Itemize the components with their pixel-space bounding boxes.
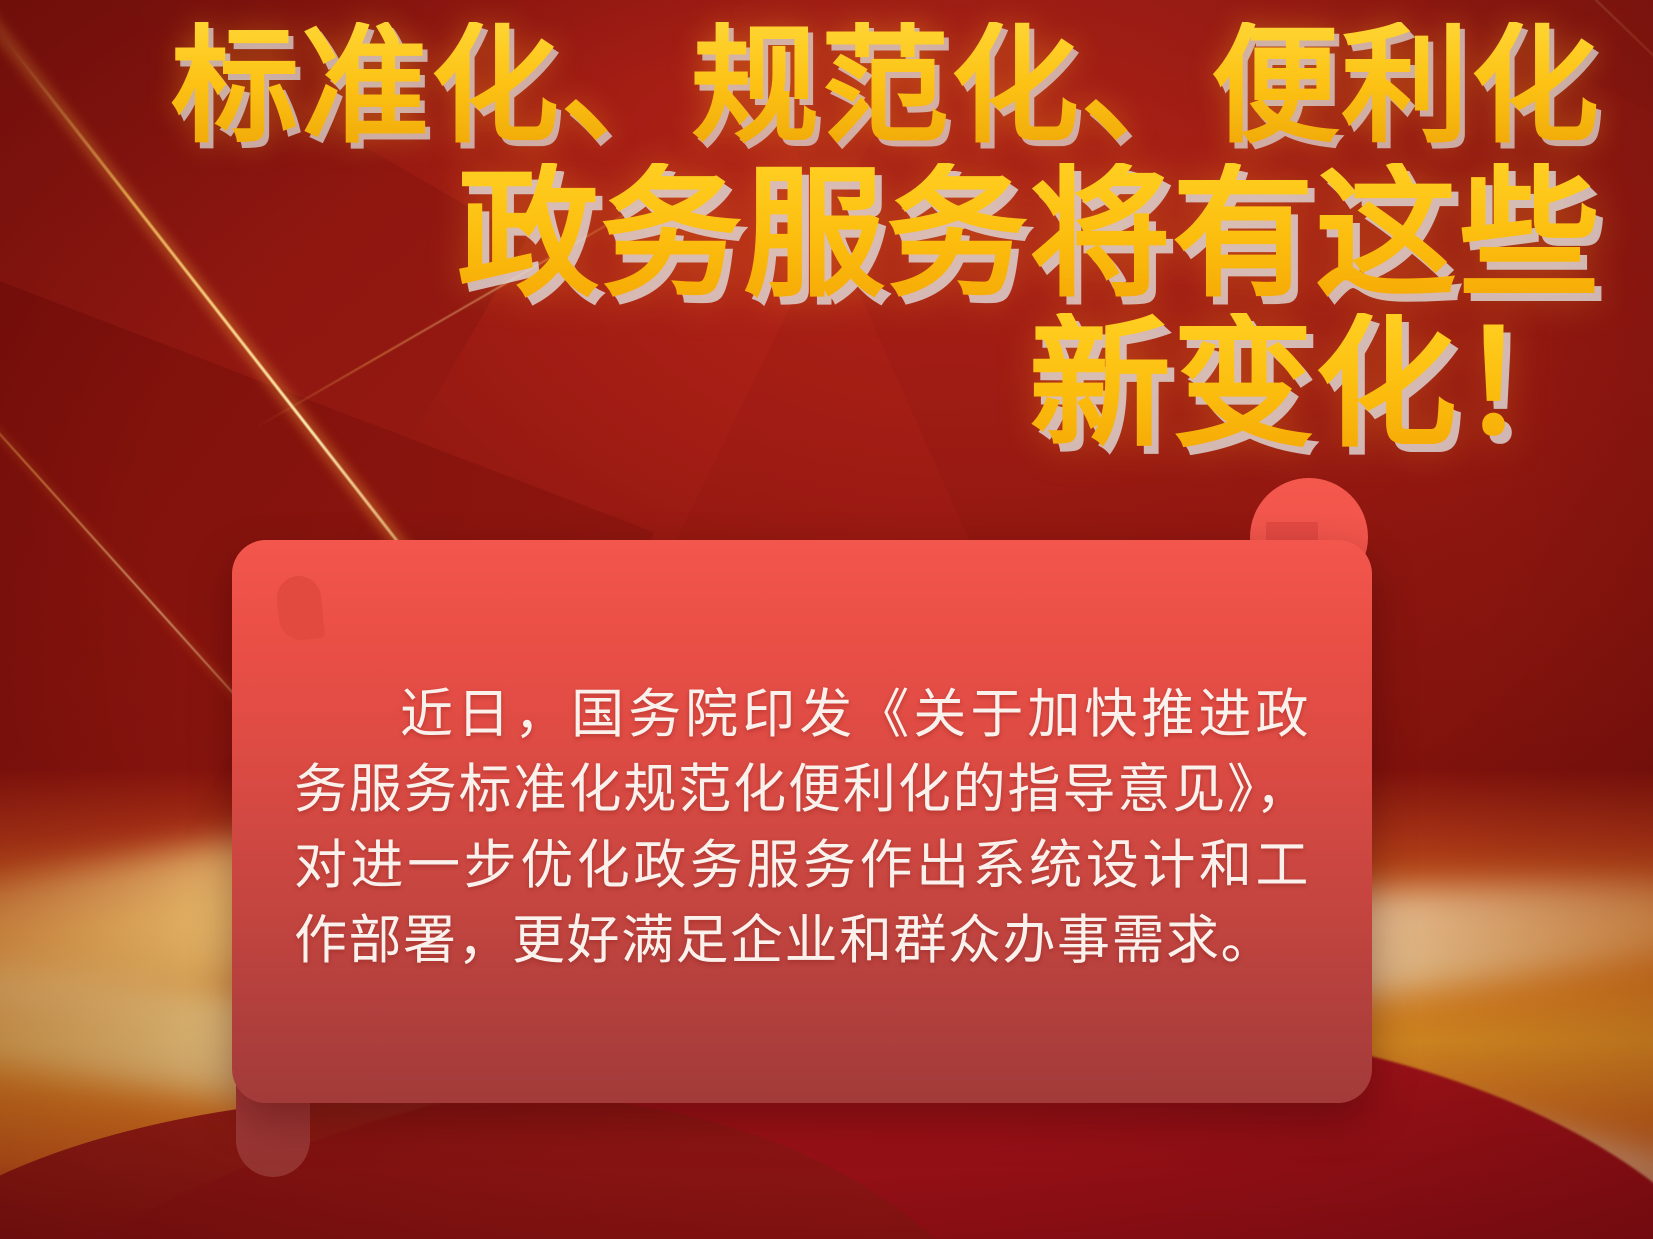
headline-line-2: 政务服务将有这些: [60, 163, 1601, 308]
headline-block: 标准化、规范化、便利化 政务服务将有这些 新变化！: [0, 22, 1653, 458]
quote-mark-icon: [275, 574, 325, 642]
card-corner-tab-bottom-left: [236, 1057, 310, 1177]
headline-line-1: 标准化、规范化、便利化: [60, 22, 1601, 153]
poster-canvas: 标准化、规范化、便利化 政务服务将有这些 新变化！ 近日，国务院印发《关于加快推…: [0, 0, 1653, 1239]
card-corner-tab-top-right: [1250, 478, 1368, 596]
headline-line-3: 新变化！: [60, 313, 1601, 458]
summary-card: 近日，国务院印发《关于加快推进政务服务标准化规范化便利化的指导意见》，对进一步优…: [232, 540, 1372, 1103]
summary-card-wrapper: 近日，国务院印发《关于加快推进政务服务标准化规范化便利化的指导意见》，对进一步优…: [232, 540, 1372, 1103]
summary-body-text: 近日，国务院印发《关于加快推进政务服务标准化规范化便利化的指导意见》，对进一步优…: [294, 677, 1310, 978]
